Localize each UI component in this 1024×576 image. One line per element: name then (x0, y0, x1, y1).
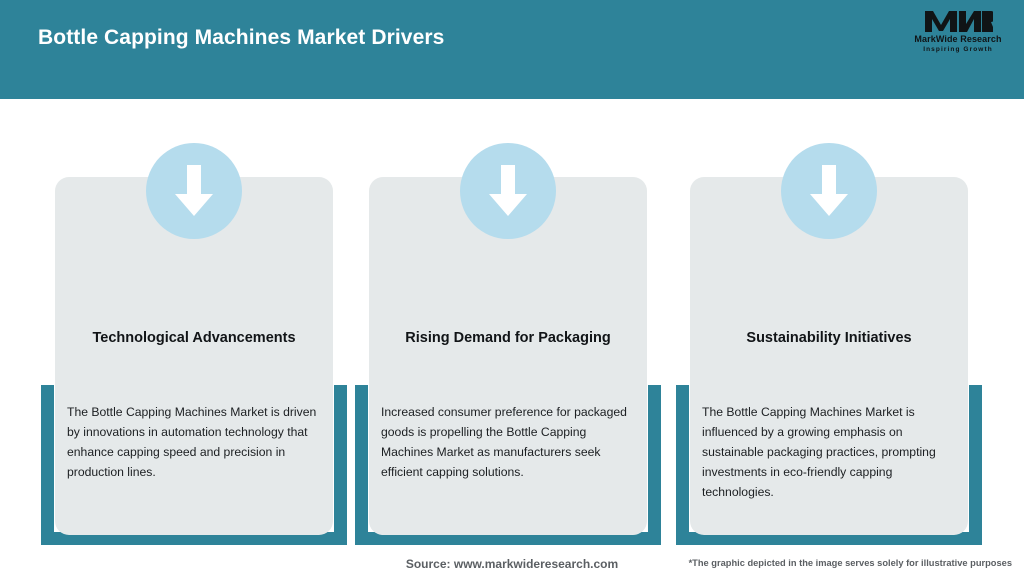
arrow-down-icon (460, 143, 556, 239)
logo-name: MarkWide Research (906, 34, 1010, 45)
card-title: Technological Advancements (67, 329, 321, 348)
card-body-text: Increased consumer preference for packag… (381, 402, 633, 482)
driver-card-2: Rising Demand for Packaging Increased co… (355, 99, 661, 545)
card-title: Rising Demand for Packaging (381, 329, 635, 348)
card-body-text: The Bottle Capping Machines Market is dr… (67, 402, 319, 482)
page-header: Bottle Capping Machines Market Drivers M… (0, 0, 1024, 99)
page-title: Bottle Capping Machines Market Drivers (38, 26, 444, 50)
card-body-text: The Bottle Capping Machines Market is in… (702, 402, 954, 502)
driver-card-3: Sustainability Initiatives The Bottle Ca… (676, 99, 982, 545)
arrow-down-icon (781, 143, 877, 239)
arrow-down-icon (146, 143, 242, 239)
logo-tagline: Inspiring Growth (906, 45, 1010, 54)
drivers-card-group: Technological Advancements The Bottle Ca… (0, 99, 1024, 576)
disclaimer-note: *The graphic depicted in the image serve… (689, 558, 1012, 568)
card-title: Sustainability Initiatives (702, 329, 956, 348)
logo-mark-icon (906, 8, 1010, 34)
brand-logo: MarkWide Research Inspiring Growth (906, 8, 1010, 66)
driver-card-1: Technological Advancements The Bottle Ca… (41, 99, 347, 545)
